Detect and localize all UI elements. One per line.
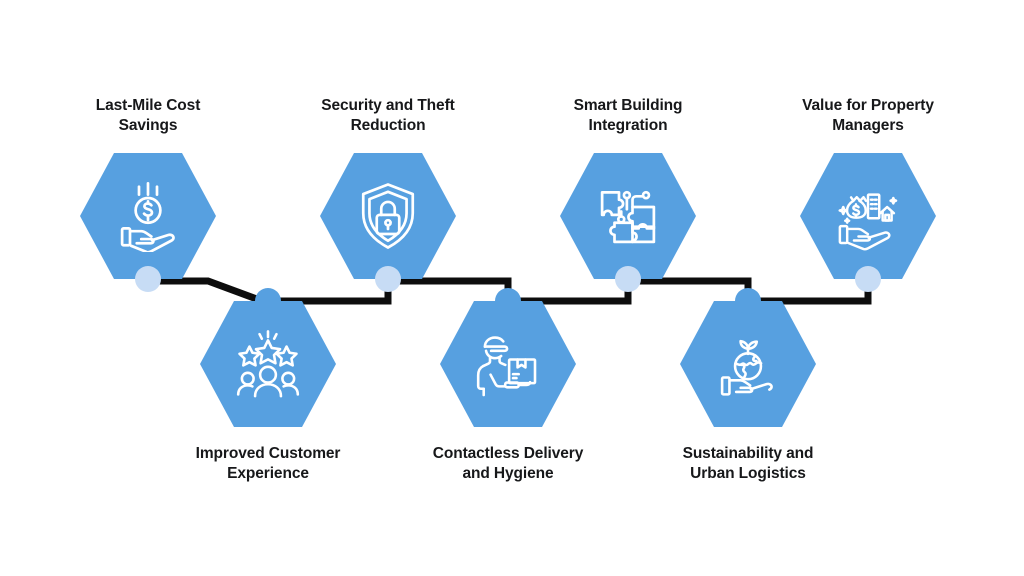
node-label: Contactless Delivery and Hygiene [408,444,608,484]
hexagon-wrapper[interactable] [320,153,456,279]
node-contactless-delivery-and-hygiene[interactable]: Contactless Delivery and Hygiene [408,301,608,484]
hexagon-wrapper[interactable] [680,301,816,427]
node-value-for-property-managers[interactable]: Value for Property Managers [768,96,968,279]
hexagon-wrapper[interactable] [200,301,336,427]
node-smart-building-integration[interactable]: Smart Building Integration [528,96,728,279]
stars-people-rating-icon [232,328,304,400]
node-label-line1: Improved Customer [168,444,368,464]
node-label-line2: Reduction [288,116,488,136]
node-label-line1: Smart Building [528,96,728,116]
puzzle-circuit-icon [592,180,664,252]
connector-dot-light [375,266,401,292]
node-label: Sustainability and Urban Logistics [648,444,848,484]
node-label: Value for Property Managers [768,96,968,136]
infographic-canvas: Last-Mile Cost Savings [0,0,1024,576]
hand-holding-globe-sprout-icon [712,328,784,400]
hexagon-wrapper[interactable] [560,153,696,279]
node-label-line1: Value for Property [768,96,968,116]
node-label-line2: Savings [48,116,248,136]
node-label: Last-Mile Cost Savings [48,96,248,136]
shield-lock-icon [352,180,424,252]
connector-dot-mid [255,288,281,314]
node-label-line1: Contactless Delivery [408,444,608,464]
node-label-line1: Security and Theft [288,96,488,116]
node-security-and-theft-reduction[interactable]: Security and Theft Reduction [288,96,488,279]
node-label-line1: Sustainability and [648,444,848,464]
connector-dot-light [615,266,641,292]
hexagon-wrapper[interactable] [80,153,216,279]
node-sustainability-and-urban-logistics[interactable]: Sustainability and Urban Logistics [648,301,848,484]
connector-dot-light [135,266,161,292]
node-label-line2: Integration [528,116,728,136]
node-label-line2: Managers [768,116,968,136]
node-label: Improved Customer Experience [168,444,368,484]
hand-holding-money-bag-buildings-icon [832,180,904,252]
node-label: Smart Building Integration [528,96,728,136]
hexagon-wrapper[interactable] [440,301,576,427]
node-improved-customer-experience[interactable]: Improved Customer Experience [168,301,368,484]
node-label: Security and Theft Reduction [288,96,488,136]
connector-dot-mid [735,288,761,314]
node-label-line2: Urban Logistics [648,464,848,484]
node-last-mile-cost-savings[interactable]: Last-Mile Cost Savings [48,96,248,279]
node-label-line2: Experience [168,464,368,484]
connector-dot-light [855,266,881,292]
hexagon-wrapper[interactable] [800,153,936,279]
node-label-line1: Last-Mile Cost [48,96,248,116]
node-label-line2: and Hygiene [408,464,608,484]
delivery-person-parcel-icon [472,328,544,400]
hand-holding-coin-icon [112,180,184,252]
connector-dot-mid [495,288,521,314]
